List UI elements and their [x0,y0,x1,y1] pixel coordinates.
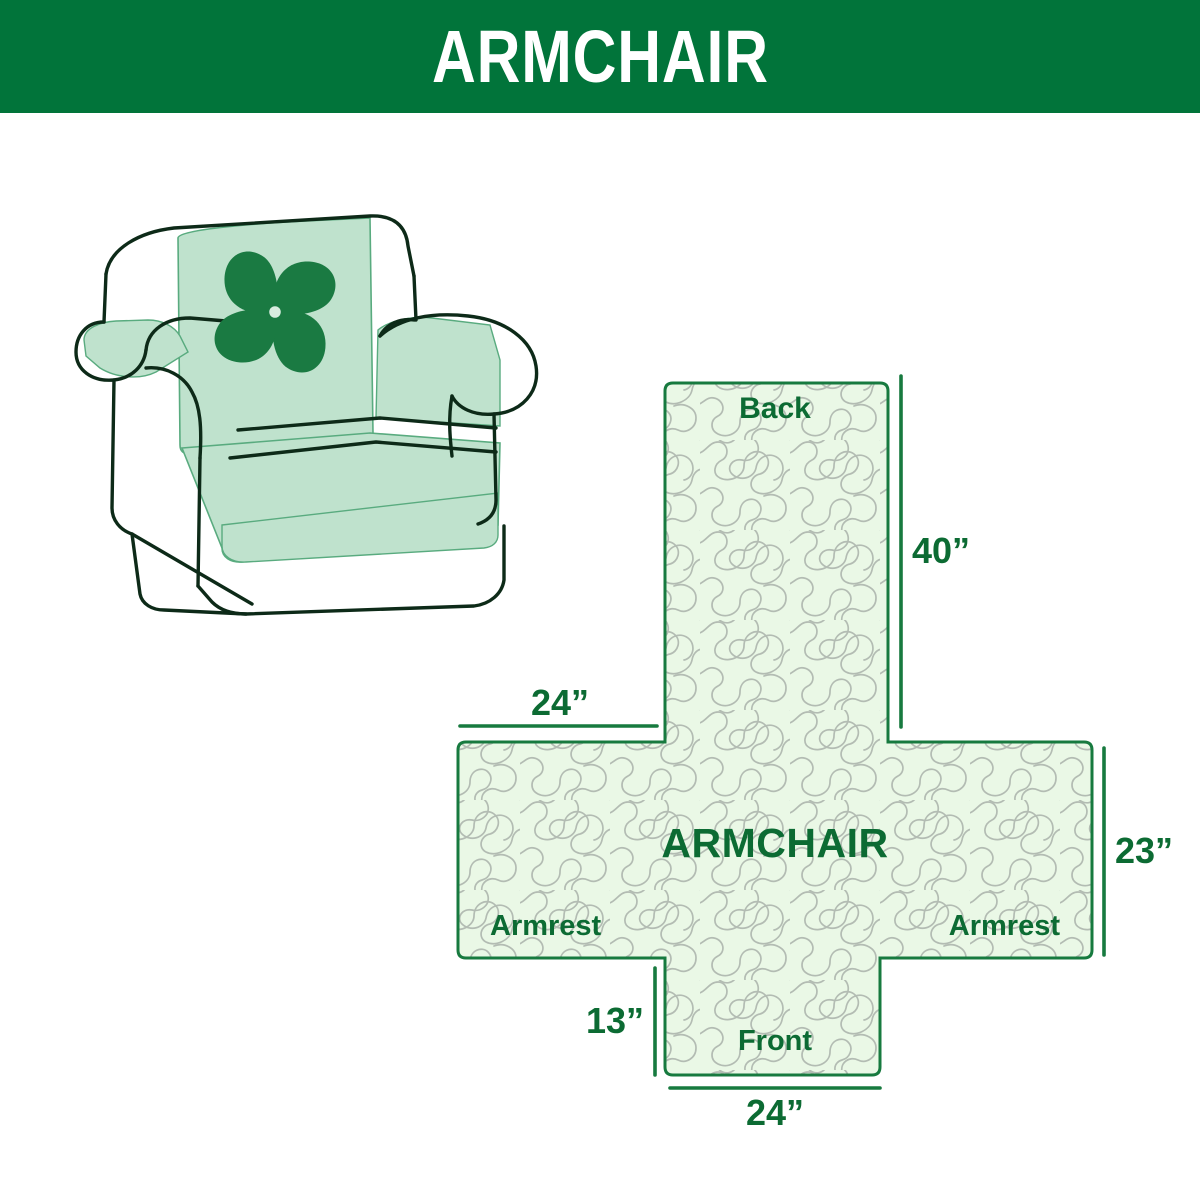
dimension-value-24-top: 24” [531,682,589,723]
dimension-front-height: 13” [586,968,655,1075]
page-title: ARMCHAIR [432,20,769,94]
header-banner: ARMCHAIR [0,0,1200,113]
dimension-front-width: 24” [670,1088,880,1133]
dimension-back-width: 24” [460,682,657,726]
panel-label-armrest-left: Armrest [490,910,602,942]
dimension-value-40: 40” [912,530,970,571]
dimension-back-height: 40” [901,376,970,727]
panel-label-armrest-right: Armrest [949,910,1061,942]
cover-cross-shape [458,383,1092,1075]
panel-label-front: Front [738,1025,812,1057]
dimension-value-24-bottom: 24” [746,1092,804,1133]
dimension-value-13: 13” [586,1000,644,1041]
dimension-value-23: 23” [1115,830,1173,871]
center-label-armchair: ARMCHAIR [661,820,888,866]
panel-label-back: Back [739,392,811,425]
product-dimension-infographic: ARMCHAIR [0,0,1200,1200]
cover-layout-diagram: Back ARMCHAIR Armrest Armrest Front 40” … [430,350,1200,1140]
dimension-arm-depth: 23” [1104,748,1173,955]
